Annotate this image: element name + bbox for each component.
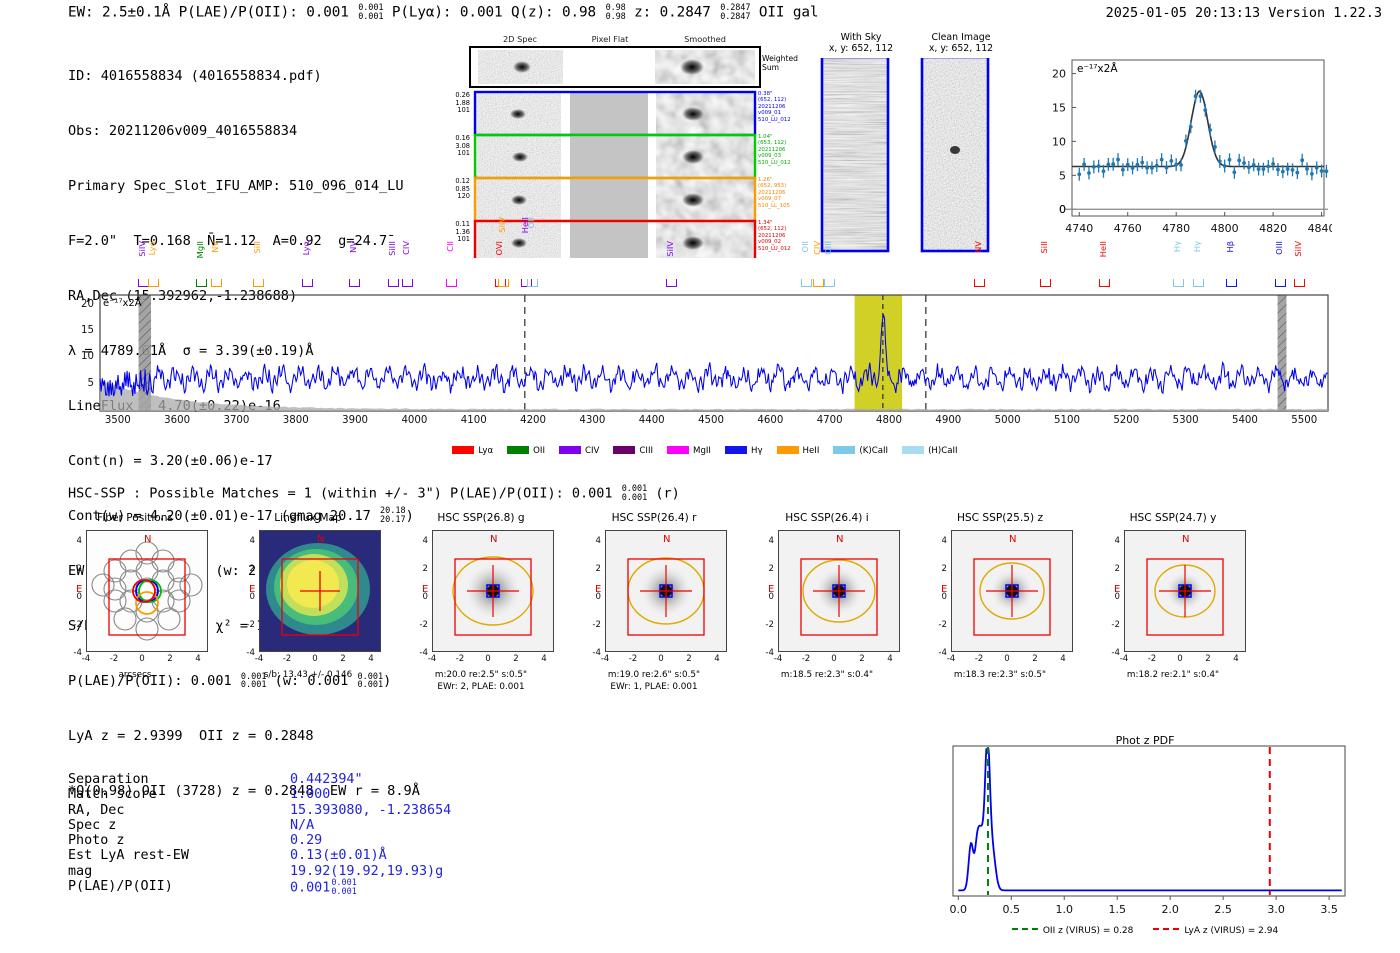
emission-line-bracket: [498, 279, 509, 287]
legend-item: Hγ: [725, 446, 763, 456]
emission-line-bracket: [1294, 279, 1305, 287]
svg-text:e⁻¹⁷x2Å: e⁻¹⁷x2Å: [1077, 62, 1118, 75]
svg-text:3.0: 3.0: [1267, 903, 1285, 916]
cutout-x-tick: -2: [969, 654, 989, 664]
spectrum-x-tick: 4600: [744, 415, 796, 426]
emission-line-label: Hγ: [1172, 241, 1182, 252]
cutout-x-tick: 0: [651, 654, 671, 664]
table-label: mag: [68, 864, 92, 879]
cutout-x-tick: -4: [1114, 654, 1134, 664]
svg-text:4780: 4780: [1162, 222, 1190, 235]
spectrum-x-tick: 5200: [1100, 415, 1152, 426]
cutout-y-tick: 2: [752, 564, 774, 574]
fiber-row-meta: 0.38"(652, 112)20211206v009_01510_LU_012: [758, 91, 791, 123]
emission-line-bracket: [196, 279, 207, 287]
emission-line-bracket: [211, 279, 222, 287]
emission-line-label: SiIV: [1293, 241, 1303, 257]
svg-text:4740: 4740: [1065, 222, 1093, 235]
cutout-image[interactable]: [86, 530, 208, 652]
cutout-y-tick: 2: [60, 564, 82, 574]
emission-line-label: SiIV: [665, 241, 675, 257]
emission-line-label: HeII: [1098, 241, 1108, 257]
col-header-pixelflat: Pixel Flat: [570, 34, 650, 44]
table-label: Match score: [68, 787, 157, 802]
phot-z-title: Phot z PDF: [935, 734, 1355, 747]
2d-spectra-panel: 2D Spec Pixel Flat Smoothed Weighted Sum…: [460, 36, 780, 258]
summary-suffix: OII gal: [750, 5, 818, 21]
cutout-y-tick: 2: [406, 564, 428, 574]
cutout-x-tick: 4: [1053, 654, 1073, 664]
cutout-x-tick: -2: [277, 654, 297, 664]
legend-swatch: [777, 446, 799, 454]
emission-line-label: OIII: [1274, 241, 1284, 255]
legend-label: LyA z (VIRUS) = 2.94: [1184, 926, 1278, 936]
summary-prefix: EW: 2.5±0.1Å P(LAE)/P(OII): 0.001: [68, 5, 357, 21]
with-sky-title: With Sky: [818, 32, 904, 44]
legend-swatch: [725, 446, 747, 454]
cutout-x-tick: -2: [1142, 654, 1162, 664]
svg-text:e⁻¹⁷x2Å: e⁻¹⁷x2Å: [103, 296, 142, 309]
spectrum-y-tick: 20: [60, 299, 94, 310]
svg-text:0.5: 0.5: [1003, 903, 1021, 916]
emission-line-bracket: [824, 279, 835, 287]
emission-line-label: Hβ: [1225, 241, 1235, 253]
cutout-footer: m:20.0 re:2.5" s:0.5"EWr: 2, PLAE: 0.001: [400, 670, 562, 693]
svg-text:2.5: 2.5: [1214, 903, 1232, 916]
weighted-sum-label: Weighted Sum: [762, 54, 798, 72]
cutout-y-tick: -2: [925, 620, 947, 630]
table-label: P(LAE)/P(OII): [68, 879, 173, 894]
north-marker: N: [144, 534, 151, 545]
phot-z-legend-item: LyA z (VIRUS) = 2.94: [1153, 926, 1278, 936]
info-line: ID: 4016558834 (4016558834.pdf): [68, 67, 420, 85]
cutout-x-tick: 0: [997, 654, 1017, 664]
with-sky-coords: x, y: 652, 112: [818, 43, 904, 55]
spectrum-x-tick: 4000: [388, 415, 440, 426]
legend-swatch: [833, 446, 855, 454]
cutout-footer-line: m:18.2 re:2.1" s:0.4": [1092, 670, 1254, 682]
emission-line-label: SiIV: [137, 241, 147, 257]
info-line: Primary Spec_Slot_IFU_AMP: 510_096_014_L…: [68, 177, 420, 195]
cutout-footer: m:19.0 re:2.6" s:0.5"EWr: 1, PLAE: 0.001: [573, 670, 735, 693]
cutout-y-tick: 2: [579, 564, 601, 574]
emission-line-label: NV: [348, 241, 358, 253]
north-marker: N: [317, 534, 324, 545]
cutout-image[interactable]: [605, 530, 727, 652]
cutout-y-tick: -2: [1098, 620, 1120, 630]
spectrum-x-tick: 5300: [1160, 415, 1212, 426]
cutout-footer: arcsecs: [54, 670, 216, 682]
cutout-y-tick: -2: [579, 620, 601, 630]
legend-swatch: [667, 446, 689, 454]
emission-line-bracket: [801, 279, 812, 287]
svg-text:10: 10: [1052, 135, 1066, 148]
svg-text:0.0: 0.0: [950, 903, 968, 916]
cutout-y-tick: 4: [925, 536, 947, 546]
legend-label: HeII: [803, 446, 820, 456]
cutout-x-tick: 0: [305, 654, 325, 664]
cutout-footer: m:18.2 re:2.1" s:0.4": [1092, 670, 1254, 682]
cutout-x-tick: 2: [1198, 654, 1218, 664]
spectrum-x-tick: 3700: [210, 415, 262, 426]
spectrum-x-tick: 4800: [863, 415, 915, 426]
spectrum-x-tick: 4100: [448, 415, 500, 426]
emission-line-bracket: [813, 279, 824, 287]
table-value: 19.92(19.92,19.93)g: [290, 864, 443, 879]
legend-label: (K)CaII: [859, 446, 888, 456]
legend-label: CIII: [639, 446, 653, 456]
table-value: 0.29: [290, 833, 322, 848]
cutout-x-tick: 4: [534, 654, 554, 664]
cutout-footer-line: s/b: 13.43 +/- 0.146: [227, 670, 389, 682]
cutout-footer: m:18.5 re:2.3" s:0.4": [746, 670, 908, 682]
z-errors: 0.28470.2847: [720, 4, 750, 21]
legend-label: CIV: [585, 446, 599, 456]
emission-line-label: OII: [526, 217, 536, 228]
cutout-y-tick: 0: [925, 592, 947, 602]
svg-text:4820: 4820: [1259, 222, 1287, 235]
emission-line-bracket: [1226, 279, 1237, 287]
legend-item: (K)CaII: [833, 446, 888, 456]
cutout-x-tick: -2: [623, 654, 643, 664]
fiber-row-stats: 0.261.88101: [432, 92, 470, 115]
plae-errors: 0.0010.001: [358, 4, 383, 21]
cutout-y-tick: 4: [406, 536, 428, 546]
legend-label: OII: [533, 446, 545, 456]
emission-line-label: MgII: [195, 241, 205, 258]
timestamp-version: 2025-01-05 20:13:13 Version 1.22.3: [1106, 5, 1382, 21]
cutout-y-tick: 4: [1098, 536, 1120, 546]
emission-line-bracket: [666, 279, 677, 287]
cutout-image[interactable]: [778, 530, 900, 652]
fiber-row-meta: 1.26"(652, 953)20211206v009_07510_LL_105: [758, 177, 790, 209]
cutout-x-tick: -2: [450, 654, 470, 664]
spectrum-legend: LyαOIICIVCIIIMgIIHγHeII(K)CaII(H)CaII: [60, 446, 1350, 456]
cutout-title: Fiber Positions: [60, 512, 210, 524]
spectrum-x-tick: 3900: [329, 415, 381, 426]
emission-line-label: Lyα: [301, 241, 311, 255]
emission-line-label: SiII: [252, 241, 262, 253]
svg-text:5: 5: [1059, 169, 1066, 182]
legend-item: OII: [507, 446, 545, 456]
legend-swatch: [559, 446, 581, 454]
svg-text:1.5: 1.5: [1108, 903, 1126, 916]
full-spectrum-plot: e⁻¹⁷x2Å SiIVLyαMgIINVSiIILyαNVSiIIICIVCI…: [60, 283, 1350, 468]
emission-line-bracket: [1193, 279, 1204, 287]
spectrum-x-tick: 4200: [507, 415, 559, 426]
emission-line-label: Hγ: [1192, 241, 1202, 252]
emission-line-bracket: [1275, 279, 1286, 287]
cutout-x-tick: 4: [707, 654, 727, 664]
legend-dash: [1153, 928, 1179, 930]
col-header-smoothed: Smoothed: [660, 34, 750, 44]
spectrum-x-tick: 3800: [270, 415, 322, 426]
cutout-y-tick: 0: [60, 592, 82, 602]
cutout-image[interactable]: [432, 530, 554, 652]
north-marker: N: [1009, 534, 1016, 545]
cutout-footer-line: EWr: 2, PLAE: 0.001: [400, 682, 562, 694]
cutout-footer-line: m:20.0 re:2.5" s:0.5": [400, 670, 562, 682]
legend-dash: [1012, 928, 1038, 930]
legend-swatch: [613, 446, 635, 454]
north-marker: N: [663, 534, 670, 545]
cutout-y-tick: 0: [406, 592, 428, 602]
table-label: Spec z: [68, 818, 116, 833]
emission-line-bracket: [527, 279, 538, 287]
cutout-y-tick: 4: [752, 536, 774, 546]
emission-line-label: NV: [210, 241, 220, 253]
legend-label: MgII: [693, 446, 711, 456]
info-redshifts: LyA z = 2.9399 OII z = 0.2848: [68, 727, 420, 745]
cutout-image[interactable]: [259, 530, 381, 652]
cutout-x-tick: -4: [941, 654, 961, 664]
cutout-y-tick: 4: [579, 536, 601, 546]
cutout-footer-line: m:18.5 re:2.3" s:0.4": [746, 670, 908, 682]
legend-swatch: [902, 446, 924, 454]
spectrum-x-tick: 5400: [1219, 415, 1271, 426]
svg-text:4800: 4800: [1211, 222, 1239, 235]
emission-line-label: OII: [800, 241, 810, 252]
table-label: RA, Dec: [68, 803, 124, 818]
phot-z-legend-item: OII z (VIRUS) = 0.28: [1012, 926, 1134, 936]
spectrum-y-tick: 15: [60, 325, 94, 336]
emission-line-label: OVI: [494, 241, 504, 256]
cutout-x-tick: 2: [333, 654, 353, 664]
cutout-image[interactable]: [1124, 530, 1246, 652]
emission-line-bracket: [253, 279, 264, 287]
cutout-y-tick: 2: [925, 564, 947, 574]
cutout-y-tick: 4: [60, 536, 82, 546]
north-marker: N: [1182, 534, 1189, 545]
spectrum-x-tick: 5000: [982, 415, 1034, 426]
emission-line-bracket: [349, 279, 360, 287]
cutout-footer-line: arcsecs: [54, 670, 216, 682]
cutout-x-tick: 2: [160, 654, 180, 664]
emission-line-label: SiIII: [387, 241, 397, 256]
cutout-title: HSC SSP(26.4) i: [752, 512, 902, 524]
cutout-y-tick: -2: [60, 620, 82, 630]
cutout-x-tick: 4: [188, 654, 208, 664]
cutout-y-tick: -2: [752, 620, 774, 630]
cutout-x-tick: 0: [478, 654, 498, 664]
info-line: F=2.0" T=0.168 N̄=1.1̄2 A=0.9̄2 g=24.7̄: [68, 232, 420, 250]
table-value: 0.13(±0.01)Å: [290, 848, 387, 863]
spectrum-x-tick: 5500: [1278, 415, 1330, 426]
emission-line-label: OIII: [823, 241, 833, 255]
cutout-x-tick: 2: [506, 654, 526, 664]
legend-swatch: [452, 446, 474, 454]
clean-image-coords: x, y: 652, 112: [918, 43, 1004, 55]
cutout-y-tick: 0: [579, 592, 601, 602]
cutout-x-tick: 4: [1226, 654, 1246, 664]
cutout-title: HSC SSP(25.5) z: [925, 512, 1075, 524]
fiber-row-stats: 0.163.08101: [432, 135, 470, 158]
table-value: 0.442394": [290, 772, 363, 787]
summary-line: EW: 2.5±0.1Å P(LAE)/P(OII): 0.001 0.0010…: [68, 4, 818, 21]
qz-errors: 0.980.98: [606, 4, 626, 21]
table-value: 1.000: [290, 787, 330, 802]
phot-z-legend: OII z (VIRUS) = 0.28LyA z (VIRUS) = 2.94: [935, 926, 1355, 936]
table-value: 0.0010.0010.001: [290, 879, 357, 896]
cutout-x-tick: -2: [796, 654, 816, 664]
cutout-footer-line: EWr: 1, PLAE: 0.001: [573, 682, 735, 694]
cutout-y-tick: 2: [1098, 564, 1120, 574]
fiber-row-meta: 1.34"(652, 112)20211206v009_02510_LU_012: [758, 220, 791, 252]
spectrum-x-tick: 4700: [804, 415, 856, 426]
spectrum-x-tick: 4400: [626, 415, 678, 426]
emission-line-bracket: [302, 279, 313, 287]
legend-label: Hγ: [751, 446, 763, 456]
cutout-x-tick: 2: [679, 654, 699, 664]
summary-mid: P(Lyα): 0.001 Q(z): 0.98: [383, 5, 604, 21]
spectrum-y-tick: 10: [60, 351, 94, 362]
emission-line-label: CIV: [401, 241, 411, 255]
legend-item: CIII: [613, 446, 653, 456]
fiber-row-meta: 1.04"(653, 112)20211206v009_03510_LU_012: [758, 134, 791, 166]
cutout-title: HSC SSP(26.4) r: [579, 512, 729, 524]
emission-line-label: CIV: [812, 241, 822, 255]
hsc-plae-errors: 0.0010.001: [622, 485, 648, 502]
svg-text:1.0: 1.0: [1055, 903, 1073, 916]
cutout-x-tick: -4: [595, 654, 615, 664]
legend-label: Lyα: [478, 446, 493, 456]
cutout-y-tick: 0: [233, 592, 255, 602]
clean-image-title: Clean Image: [918, 32, 1004, 44]
summary-mid2: z: 0.2847: [626, 5, 720, 21]
cutout-y-tick: -2: [406, 620, 428, 630]
emission-line-bracket: [148, 279, 159, 287]
cutout-x-tick: -4: [422, 654, 442, 664]
col-header-2dspec: 2D Spec: [480, 34, 560, 44]
legend-item: CIV: [559, 446, 599, 456]
emission-line-bracket: [138, 279, 149, 287]
spectrum-y-tick: 5: [60, 378, 94, 389]
emission-line-label: CII: [445, 241, 455, 252]
plae-errors: 0.0010.001: [331, 879, 357, 896]
cutout-x-tick: 2: [1025, 654, 1045, 664]
north-marker: N: [836, 534, 843, 545]
cutout-y-tick: 4: [233, 536, 255, 546]
table-label: Photo z: [68, 833, 124, 848]
spectrum-x-tick: 4500: [685, 415, 737, 426]
cutout-footer: m:18.3 re:2.3" s:0.5": [919, 670, 1081, 682]
cutout-x-tick: 0: [132, 654, 152, 664]
legend-swatch: [507, 446, 529, 454]
emission-line-label: Lyα: [147, 241, 157, 255]
cutout-x-tick: 0: [824, 654, 844, 664]
cutout-y-tick: 0: [1098, 592, 1120, 602]
cutout-footer-line: m:18.3 re:2.3" s:0.5": [919, 670, 1081, 682]
table-label: Separation: [68, 772, 149, 787]
cutout-title: Lineflux Map: [233, 512, 383, 524]
cutout-x-tick: -4: [768, 654, 788, 664]
emission-line-bracket: [446, 279, 457, 287]
emission-line-bracket: [1099, 279, 1110, 287]
cutout-footer-line: m:19.0 re:2.6" s:0.5": [573, 670, 735, 682]
cutout-x-tick: -2: [104, 654, 124, 664]
info-line: Obs: 20211206v009_4016558834: [68, 122, 420, 140]
legend-item: HeII: [777, 446, 820, 456]
cutout-x-tick: 0: [1170, 654, 1190, 664]
spectrum-x-tick: 3600: [151, 415, 203, 426]
cutout-x-tick: 4: [880, 654, 900, 664]
svg-text:20: 20: [1052, 68, 1066, 81]
table-label: Est LyA rest-EW: [68, 848, 189, 863]
gmag-errors: 20.1820.17: [380, 507, 406, 524]
emission-line-label: NV: [973, 241, 983, 253]
legend-label: (H)CaII: [928, 446, 958, 456]
svg-text:2.0: 2.0: [1161, 903, 1179, 916]
legend-item: (H)CaII: [902, 446, 958, 456]
spectrum-x-tick: 4300: [566, 415, 618, 426]
legend-item: Lyα: [452, 446, 493, 456]
emission-line-bracket: [974, 279, 985, 287]
cutout-y-tick: -2: [233, 620, 255, 630]
cutout-x-tick: -4: [76, 654, 96, 664]
emission-line-bracket: [388, 279, 399, 287]
emission-line-label: SiIV: [497, 217, 507, 233]
cutout-footer: s/b: 13.43 +/- 0.146: [227, 670, 389, 682]
cutout-title: HSC SSP(26.8) g: [406, 512, 556, 524]
cutout-x-tick: 4: [361, 654, 381, 664]
svg-text:0: 0: [1059, 203, 1066, 216]
emission-line-label: SiII: [1039, 241, 1049, 253]
svg-text:4760: 4760: [1114, 222, 1142, 235]
line-fit-plot: 05101520474047604780480048204840e⁻¹⁷x2Å0: [1032, 44, 1332, 262]
cutout-image[interactable]: [951, 530, 1073, 652]
cutout-title: HSC SSP(24.7) y: [1098, 512, 1248, 524]
legend-label: OII z (VIRUS) = 0.28: [1043, 926, 1134, 936]
emission-line-bracket: [1173, 279, 1184, 287]
emission-line-bracket: [1040, 279, 1051, 287]
spectrum-x-tick: 4900: [922, 415, 974, 426]
hsc-match-headline: HSC-SSP : Possible Matches = 1 (within +…: [68, 485, 680, 502]
svg-text:15: 15: [1052, 101, 1066, 114]
table-value: 15.393080, -1.238654: [290, 803, 451, 818]
fiber-row-stats: 0.120.85120: [432, 178, 470, 201]
table-value: N/A: [290, 818, 314, 833]
spectrum-x-tick: 3500: [92, 415, 144, 426]
emission-line-bracket: [402, 279, 413, 287]
cutout-y-tick: 0: [752, 592, 774, 602]
spectrum-x-tick: 5100: [1041, 415, 1093, 426]
cutout-x-tick: -4: [249, 654, 269, 664]
svg-text:3.5: 3.5: [1320, 903, 1338, 916]
legend-item: MgII: [667, 446, 711, 456]
north-marker: N: [490, 534, 497, 545]
cutout-x-tick: 2: [852, 654, 872, 664]
svg-text:4840: 4840: [1308, 222, 1332, 235]
cutout-y-tick: 2: [233, 564, 255, 574]
phot-z-pdf-plot: Phot z PDF 0.00.51.01.52.02.53.03.5 OII …: [935, 736, 1355, 946]
